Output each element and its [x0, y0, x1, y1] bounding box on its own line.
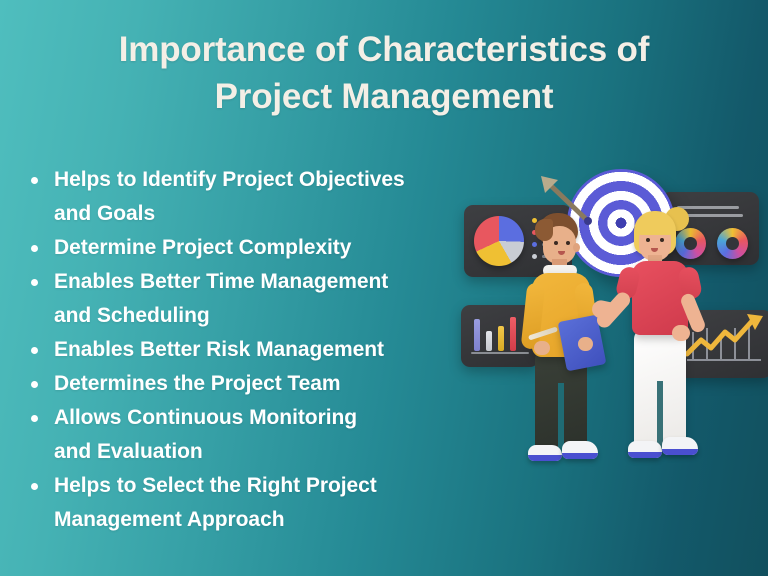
project-management-illustration	[455, 155, 768, 485]
slide-canvas: Importance of Characteristics of Project…	[0, 0, 768, 576]
list-item: Allows Continuous Monitoring and Evaluat…	[22, 401, 492, 469]
list-item: Helps to Select the Right Project Manage…	[22, 469, 492, 537]
list-item: Enables Better Time Management and Sched…	[22, 265, 492, 333]
list-item: Determines the Project Team	[22, 367, 492, 401]
female-character	[610, 205, 720, 480]
male-character	[510, 213, 615, 473]
list-item: Enables Better Risk Management	[22, 333, 492, 367]
donut-chart-icon	[717, 228, 748, 259]
list-item: Helps to Identify Project Objectives and…	[22, 163, 492, 231]
bullet-list: Helps to Identify Project Objectives and…	[22, 163, 492, 537]
page-title: Importance of Characteristics of Project…	[34, 26, 734, 120]
list-item: Determine Project Complexity	[22, 231, 492, 265]
